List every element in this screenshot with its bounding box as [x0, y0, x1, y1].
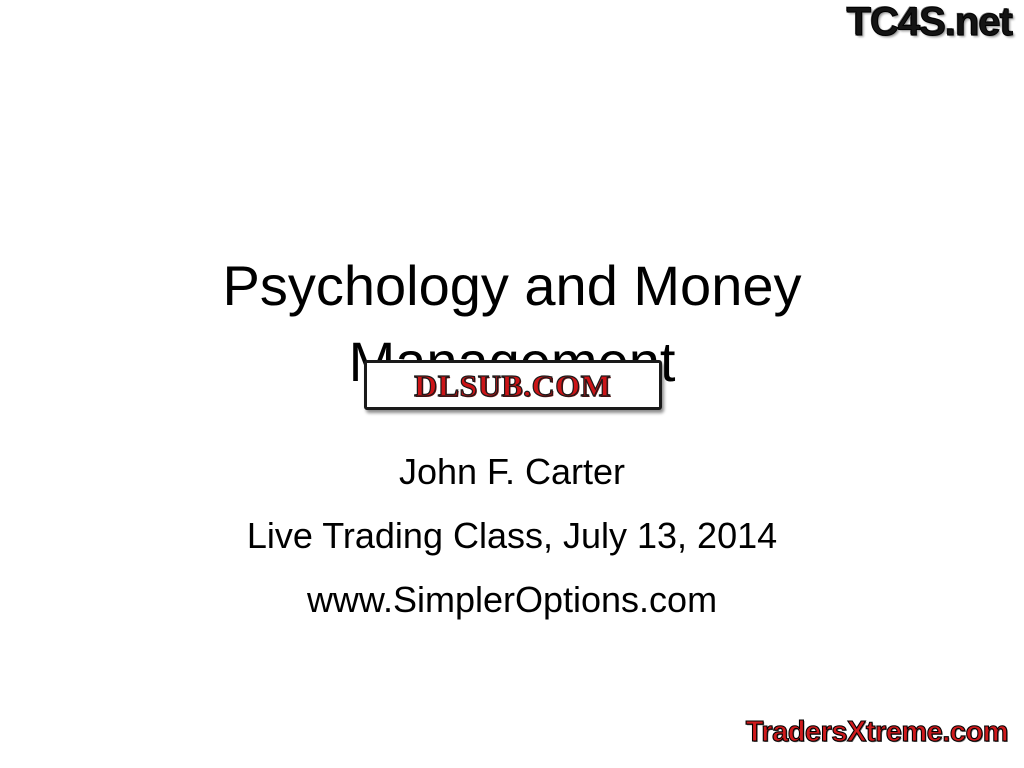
slide-subtitle: John F. Carter Live Trading Class, July … [112, 440, 912, 632]
subtitle-line-author: John F. Carter [112, 440, 912, 504]
subtitle-line-event: Live Trading Class, July 13, 2014 [112, 504, 912, 568]
watermark-tradersxtreme: TradersXtreme.com [742, 716, 1012, 750]
subtitle-line-website: www.SimplerOptions.com [112, 568, 912, 632]
watermark-tradersxtreme-text: TradersXtreme.com [746, 716, 1008, 748]
watermark-dlsub-text: DLSUB.COM [414, 370, 611, 401]
slide-canvas: TC4S.net Psychology and Money Management… [0, 0, 1024, 768]
watermark-tc4s: TC4S.net [847, 2, 1012, 42]
watermark-dlsub: DLSUB.COM [364, 360, 662, 410]
